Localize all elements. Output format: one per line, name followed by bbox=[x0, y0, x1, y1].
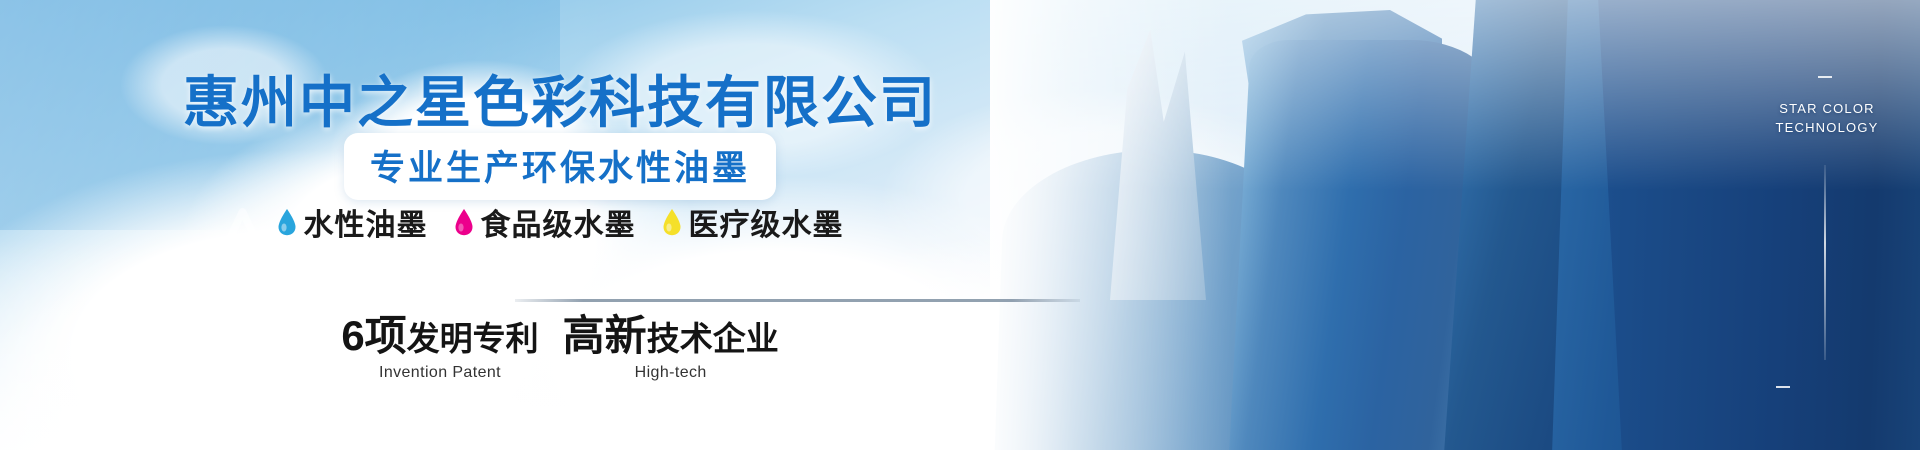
company-hero-banner: Star Color STAR COLOR TECHNOLOGY 惠州中之星色彩… bbox=[0, 0, 1920, 450]
banner-content: 惠州中之星色彩科技有限公司 专业生产环保水性油墨 水性油墨 食品级水墨 bbox=[0, 0, 1120, 450]
water-drop-icon bbox=[662, 208, 682, 236]
badge-high-tech: 高新 技术企业 High-tech bbox=[563, 315, 779, 382]
feature-list: 水性油墨 食品级水墨 医疗级水墨 bbox=[0, 200, 1120, 244]
corner-mark-tick-top bbox=[1818, 76, 1832, 78]
water-drop-icon bbox=[277, 208, 297, 236]
page-title: 惠州中之星色彩科技有限公司 bbox=[0, 58, 1120, 139]
corner-mark-line-2: TECHNOLOGY bbox=[1752, 119, 1902, 138]
badge-english-line: High-tech bbox=[563, 364, 779, 382]
subtitle-pill-wrap: 专业生产环保水性油墨 bbox=[0, 133, 1120, 200]
city-fade-overlay bbox=[990, 0, 1920, 450]
section-divider bbox=[515, 299, 1080, 302]
badge-strong-text: 6项 bbox=[341, 315, 406, 357]
skyline-illustration: STAR COLOR TECHNOLOGY bbox=[990, 0, 1920, 450]
feature-item: 食品级水墨 bbox=[454, 200, 636, 244]
corner-mark-tick-bottom bbox=[1776, 386, 1790, 388]
feature-item: 医疗级水墨 bbox=[662, 200, 844, 244]
badge-english-line: Invention Patent bbox=[341, 364, 538, 382]
feature-item: 水性油墨 bbox=[277, 200, 428, 244]
corner-brand-mark: STAR COLOR TECHNOLOGY bbox=[1752, 100, 1902, 138]
badge-rest-text: 发明专利 bbox=[407, 322, 539, 355]
badge-chinese-line: 6项 发明专利 bbox=[341, 315, 538, 357]
water-drop-icon bbox=[454, 208, 474, 236]
corner-mark-line-1: STAR COLOR bbox=[1752, 100, 1902, 119]
feature-label: 医疗级水墨 bbox=[689, 200, 844, 244]
badge-invention-patent: 6项 发明专利 Invention Patent bbox=[341, 315, 538, 382]
badge-strong-text: 高新 bbox=[563, 315, 647, 357]
credential-badges: 6项 发明专利 Invention Patent 高新 技术企业 High-te… bbox=[0, 315, 1120, 382]
subtitle-pill: 专业生产环保水性油墨 bbox=[344, 133, 776, 200]
corner-mark-rule bbox=[1824, 165, 1826, 360]
badge-chinese-line: 高新 技术企业 bbox=[563, 315, 779, 357]
feature-label: 水性油墨 bbox=[304, 200, 428, 244]
badge-rest-text: 技术企业 bbox=[647, 322, 779, 355]
feature-label: 食品级水墨 bbox=[481, 200, 636, 244]
